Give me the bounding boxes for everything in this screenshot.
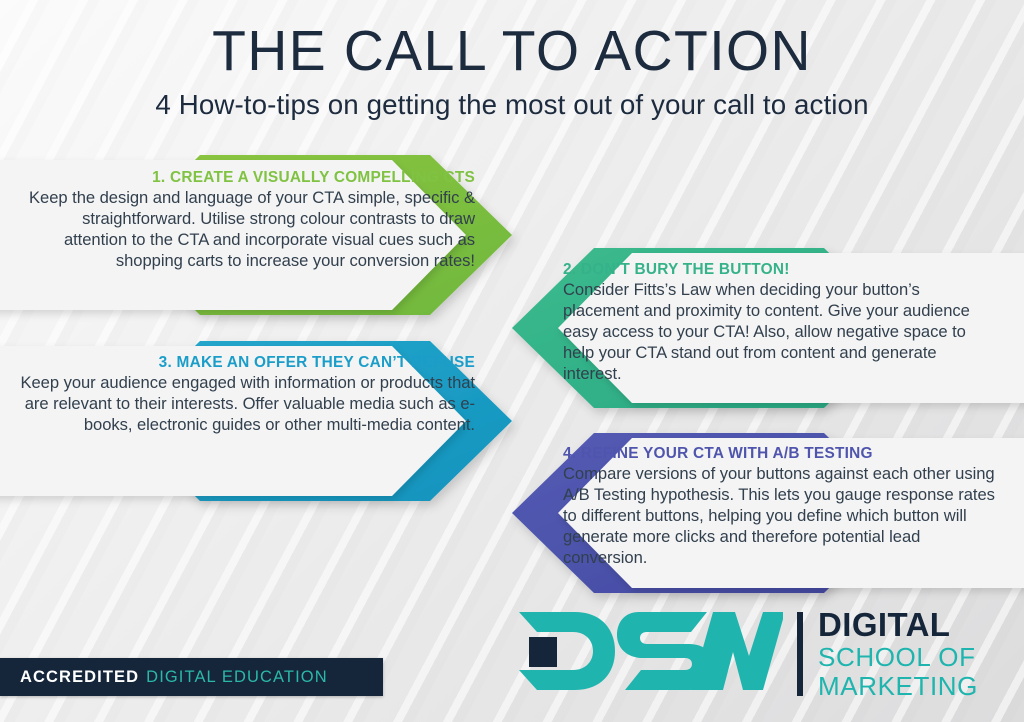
tip-1-kicker: 1. CREATE A VISUALLY COMPELLING CTS [20,168,475,187]
accredited-light-label: DIGITAL EDUCATION [146,668,328,687]
tip-4-body: Compare versions of your buttons against… [563,464,1003,568]
infographic-poster: THE CALL TO ACTION 4 How-to-tips on gett… [0,0,1024,722]
accredited-badge: ACCREDITED DIGITAL EDUCATION [0,658,383,696]
logo-divider [797,612,803,696]
tip-1-body: Keep the design and language of your CTA… [20,188,475,271]
tip-4-kicker: 4. REFINE YOUR CTA WITH A/B TESTING [563,444,1003,463]
logo-wordmark: DIGITAL SCHOOL OF MARKETING [818,608,978,699]
logo-line-digital: DIGITAL [818,608,978,641]
logo-line-school-of: SCHOOL OF [818,644,978,670]
logo-line-marketing: MARKETING [818,673,978,699]
tip-2-body: Consider Fitts’s Law when deciding your … [563,280,983,384]
tip-block-1: 1. CREATE A VISUALLY COMPELLING CTS Keep… [20,168,475,272]
dsm-logo: DIGITAL SCHOOL OF MARKETING [515,608,978,699]
tip-3-kicker: 3. MAKE AN OFFER THEY CAN’T REFUSE [20,353,475,372]
tip-block-2: 2. DON’T BURY THE BUTTON! Consider Fitts… [563,260,983,384]
tip-2-kicker: 2. DON’T BURY THE BUTTON! [563,260,983,279]
poster-header: THE CALL TO ACTION 4 How-to-tips on gett… [0,22,1024,121]
tip-block-3: 3. MAKE AN OFFER THEY CAN’T REFUSE Keep … [20,353,475,436]
dsm-logomark-icon [515,608,783,699]
page-title: THE CALL TO ACTION [15,22,1008,80]
tip-block-4: 4. REFINE YOUR CTA WITH A/B TESTING Comp… [563,444,1003,568]
tip-3-body: Keep your audience engaged with informat… [20,373,475,435]
accredited-strong-label: ACCREDITED [20,668,139,687]
page-subtitle: 4 How-to-tips on getting the most out of… [5,89,1019,121]
